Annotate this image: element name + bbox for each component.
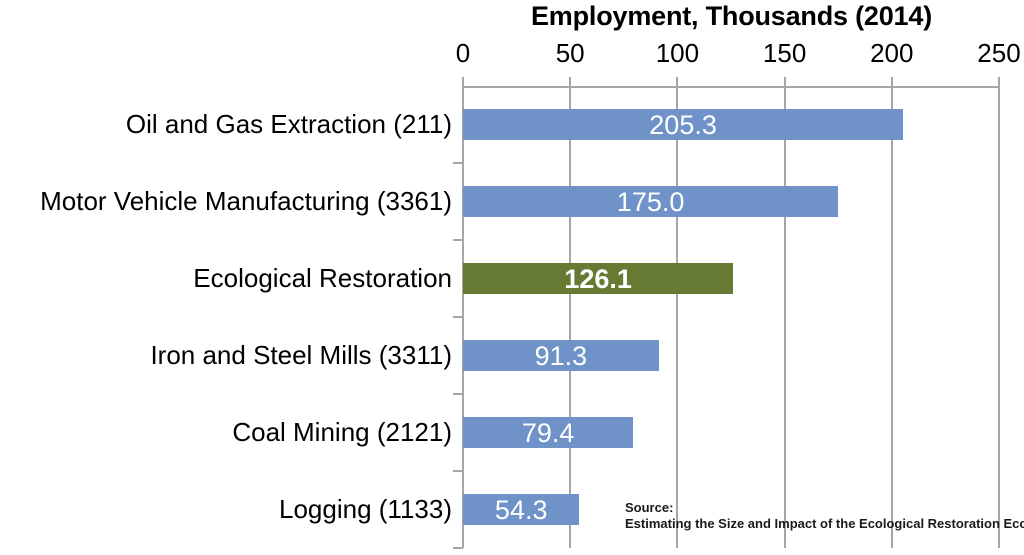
plot-top-border bbox=[462, 86, 1000, 88]
bar-value-label-0: 205.3 bbox=[463, 110, 903, 140]
bar-value-label-4: 79.4 bbox=[463, 418, 633, 448]
category-label-4: Coal Mining (2121) bbox=[0, 417, 452, 448]
bar-2[interactable]: 126.1 bbox=[463, 263, 733, 294]
gridline-150 bbox=[784, 86, 786, 548]
plot-area: 050100150200250 205.3175.0126.191.379.45… bbox=[463, 86, 999, 548]
x-tick-label-200: 200 bbox=[870, 38, 913, 68]
category-label-5: Logging (1133) bbox=[0, 494, 452, 525]
y-tick-mark-2 bbox=[453, 239, 463, 241]
x-tick-mark-150 bbox=[784, 77, 786, 86]
bar-5[interactable]: 54.3 bbox=[463, 494, 579, 525]
x-tick-mark-50 bbox=[569, 77, 571, 86]
bar-value-label-2: 126.1 bbox=[463, 264, 733, 294]
y-tick-mark-1 bbox=[453, 162, 463, 164]
bar-0[interactable]: 205.3 bbox=[463, 109, 903, 140]
gridline-200 bbox=[891, 86, 893, 548]
y-tick-mark-5 bbox=[453, 470, 463, 472]
gridline-100 bbox=[676, 86, 678, 548]
x-tick-mark-200 bbox=[891, 77, 893, 86]
source-label: Source: bbox=[625, 500, 1024, 516]
source-note: Source: Estimating the Size and Impact o… bbox=[625, 500, 1024, 532]
x-tick-label-150: 150 bbox=[763, 38, 806, 68]
category-label-0: Oil and Gas Extraction (211) bbox=[0, 109, 452, 140]
category-label-2: Ecological Restoration bbox=[0, 263, 452, 294]
y-tick-mark-6 bbox=[453, 547, 463, 549]
x-tick-mark-250 bbox=[998, 77, 1000, 86]
x-tick-label-100: 100 bbox=[656, 38, 699, 68]
chart-title: Employment, Thousands (2014) bbox=[463, 0, 1000, 32]
category-label-3: Iron and Steel Mills (3311) bbox=[0, 340, 452, 371]
x-tick-label-50: 50 bbox=[556, 38, 585, 68]
gridline-50 bbox=[569, 86, 571, 548]
y-tick-mark-3 bbox=[453, 316, 463, 318]
category-label-1: Motor Vehicle Manufacturing (3361) bbox=[0, 186, 452, 217]
bar-value-label-1: 175.0 bbox=[463, 187, 838, 217]
bar-value-label-3: 91.3 bbox=[463, 341, 659, 371]
x-tick-label-0: 0 bbox=[456, 38, 470, 68]
x-tick-mark-100 bbox=[676, 77, 678, 86]
bar-1[interactable]: 175.0 bbox=[463, 186, 838, 217]
y-axis-category-labels: Oil and Gas Extraction (211)Motor Vehicl… bbox=[0, 86, 452, 548]
gridline-250 bbox=[998, 86, 1000, 548]
bar-value-label-5: 54.3 bbox=[463, 495, 579, 525]
x-tick-label-250: 250 bbox=[977, 38, 1020, 68]
bar-4[interactable]: 79.4 bbox=[463, 417, 633, 448]
bar-3[interactable]: 91.3 bbox=[463, 340, 659, 371]
y-tick-mark-4 bbox=[453, 393, 463, 395]
x-tick-mark-0 bbox=[462, 77, 464, 86]
source-citation: Estimating the Size and Impact of the Ec… bbox=[625, 516, 1024, 532]
